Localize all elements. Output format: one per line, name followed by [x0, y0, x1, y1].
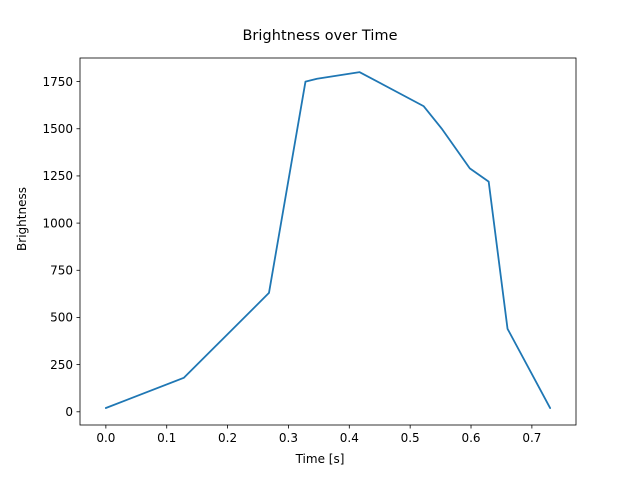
- x-tick-label: 0.2: [218, 431, 237, 445]
- y-axis-label: Brightness: [15, 159, 29, 279]
- x-axis-label: Time [s]: [0, 452, 640, 466]
- y-tick-label: 750: [50, 263, 73, 277]
- plot-area: 0.00.10.20.30.40.50.60.70250500750100012…: [0, 0, 640, 480]
- axes-spines: [80, 58, 576, 425]
- matplotlib-figure: Brightness over Time 0.00.10.20.30.40.50…: [0, 0, 640, 480]
- x-tick-label: 0.0: [96, 431, 115, 445]
- line-series-0: [106, 72, 550, 408]
- x-tick-label: 0.3: [279, 431, 298, 445]
- x-tick-label: 0.1: [157, 431, 176, 445]
- y-tick-label: 500: [50, 311, 73, 325]
- y-tick-label: 1750: [42, 75, 73, 89]
- y-tick-label: 0: [65, 405, 73, 419]
- y-tick-label: 1500: [42, 122, 73, 136]
- y-tick-label: 250: [50, 358, 73, 372]
- x-tick-label: 0.5: [401, 431, 420, 445]
- y-tick-label: 1250: [42, 169, 73, 183]
- x-tick-label: 0.7: [522, 431, 541, 445]
- x-tick-label: 0.4: [340, 431, 359, 445]
- x-tick-label: 0.6: [461, 431, 480, 445]
- y-tick-label: 1000: [42, 216, 73, 230]
